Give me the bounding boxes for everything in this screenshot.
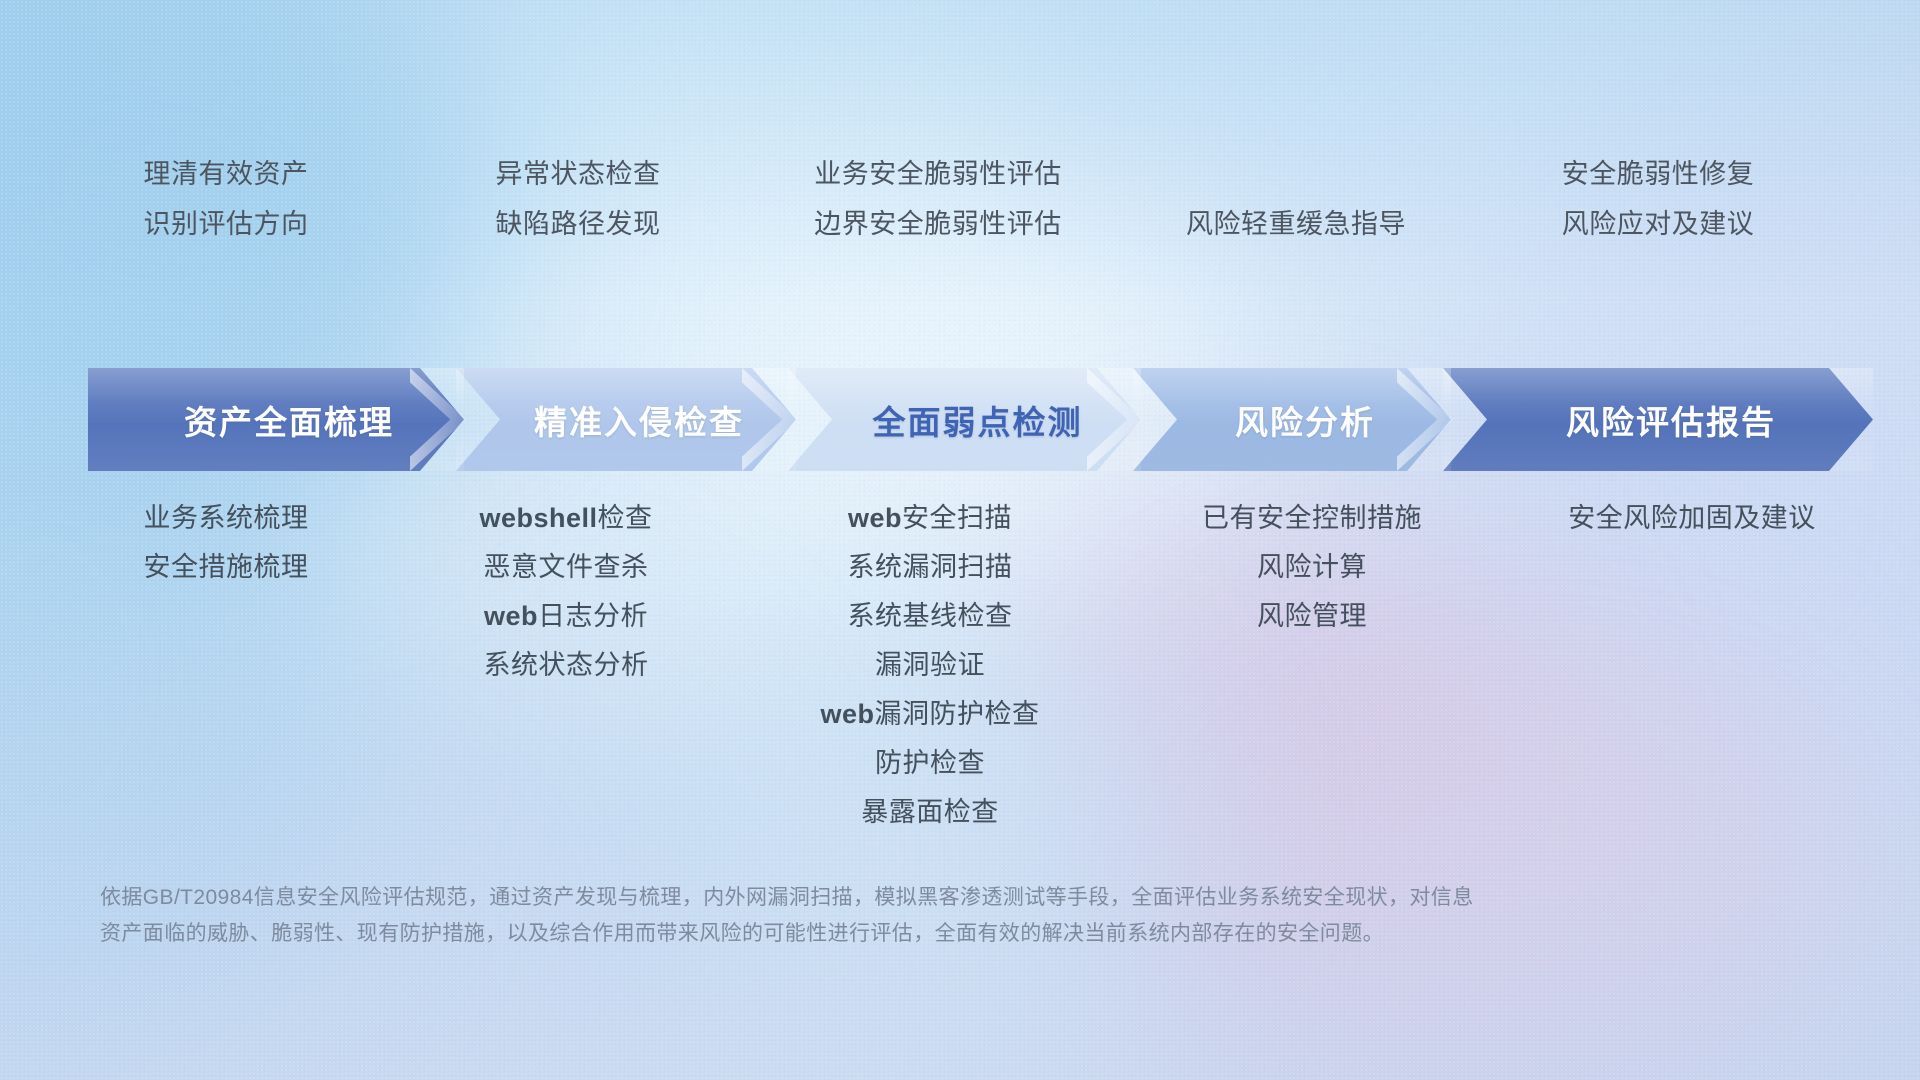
- stage-output-item: 业务系统梳理: [144, 505, 309, 532]
- footer-description: 依据GB/T20984信息安全风险评估规范，通过资产发现与梳理，内外网漏洞扫描，…: [100, 880, 1660, 952]
- stage-arrow-risk-analysis[interactable]: 风险分析: [1133, 368, 1451, 471]
- stage-output-item: 已有安全控制措施: [1202, 505, 1422, 532]
- stage-outputs-intrusion-check: webshell检查恶意文件查杀web日志分析系统状态分析: [479, 505, 652, 679]
- stage-input-item: 安全脆弱性修复: [1562, 161, 1755, 188]
- stage-output-item: 风险计算: [1202, 554, 1422, 581]
- stage-outputs-risk-analysis: 已有安全控制措施风险计算风险管理: [1202, 505, 1422, 630]
- stage-arrow-intrusion-check[interactable]: 精准入侵检查: [456, 368, 796, 471]
- stage-output-item: 系统状态分析: [479, 652, 652, 679]
- stage-arrow-weakness-detection[interactable]: 全面弱点检测: [788, 368, 1141, 471]
- stage-output-item-prefix: web: [848, 503, 902, 533]
- stage-title-asset-inventory: 资产全面梳理: [158, 396, 394, 444]
- footer-line-2: 资产面临的威胁、脆弱性、现有防护措施，以及综合作用而带来风险的可能性进行评估，全…: [100, 916, 1660, 952]
- stage-output-item: web安全扫描: [820, 505, 1039, 532]
- stage-title-risk-report: 风险评估报告: [1540, 396, 1776, 444]
- stage-input-item: 业务安全脆弱性评估: [814, 161, 1062, 188]
- stage-output-item: web漏洞防护检查: [820, 701, 1039, 728]
- stage-output-item: 暴露面检查: [820, 799, 1039, 826]
- stage-outputs-risk-report: 安全风险加固及建议: [1568, 505, 1816, 532]
- stage-input-item: 风险应对及建议: [1562, 211, 1755, 238]
- stage-output-item: 恶意文件查杀: [479, 554, 652, 581]
- stage-input-item: 缺陷路径发现: [496, 211, 661, 238]
- process-diagram: 理清有效资产识别评估方向异常状态检查缺陷路径发现业务安全脆弱性评估边界安全脆弱性…: [0, 0, 1920, 1080]
- stage-arrow-risk-report[interactable]: 风险评估报告: [1443, 368, 1873, 471]
- stage-arrow-asset-inventory[interactable]: 资产全面梳理: [88, 368, 464, 471]
- stage-output-item: 风险管理: [1202, 603, 1422, 630]
- stage-input-item: 风险轻重缓急指导: [1186, 211, 1406, 238]
- stage-output-item: 系统基线检查: [820, 603, 1039, 630]
- stage-title-intrusion-check: 精准入侵检查: [508, 396, 744, 444]
- stage-output-item: 安全措施梳理: [144, 554, 309, 581]
- stage-output-item: webshell检查: [479, 505, 652, 532]
- stage-output-item: 漏洞验证: [820, 652, 1039, 679]
- stage-output-item: 防护检查: [820, 750, 1039, 777]
- stage-output-item: web日志分析: [479, 603, 652, 630]
- stage-outputs-weakness-detection: web安全扫描系统漏洞扫描系统基线检查漏洞验证web漏洞防护检查防护检查暴露面检…: [820, 505, 1039, 826]
- stage-input-item: 边界安全脆弱性评估: [814, 211, 1062, 238]
- stage-output-item: 安全风险加固及建议: [1568, 505, 1816, 532]
- stage-output-item-prefix: web: [484, 601, 538, 631]
- stage-output-item: 系统漏洞扫描: [820, 554, 1039, 581]
- stage-input-item: 异常状态检查: [496, 161, 661, 188]
- stage-title-risk-analysis: 风险分析: [1209, 396, 1375, 444]
- stage-title-weakness-detection: 全面弱点检测: [847, 396, 1083, 444]
- footer-line-1: 依据GB/T20984信息安全风险评估规范，通过资产发现与梳理，内外网漏洞扫描，…: [100, 880, 1660, 916]
- stage-output-item-prefix: web: [820, 699, 874, 729]
- stage-input-item: 识别评估方向: [144, 211, 309, 238]
- stage-output-item-prefix: webshell: [479, 503, 597, 533]
- stage-arrow-banner: 资产全面梳理精准入侵检查全面弱点检测风险分析风险评估报告: [88, 368, 1853, 471]
- stage-outputs-asset-inventory: 业务系统梳理安全措施梳理: [144, 505, 309, 581]
- stage-input-item: 理清有效资产: [144, 161, 309, 188]
